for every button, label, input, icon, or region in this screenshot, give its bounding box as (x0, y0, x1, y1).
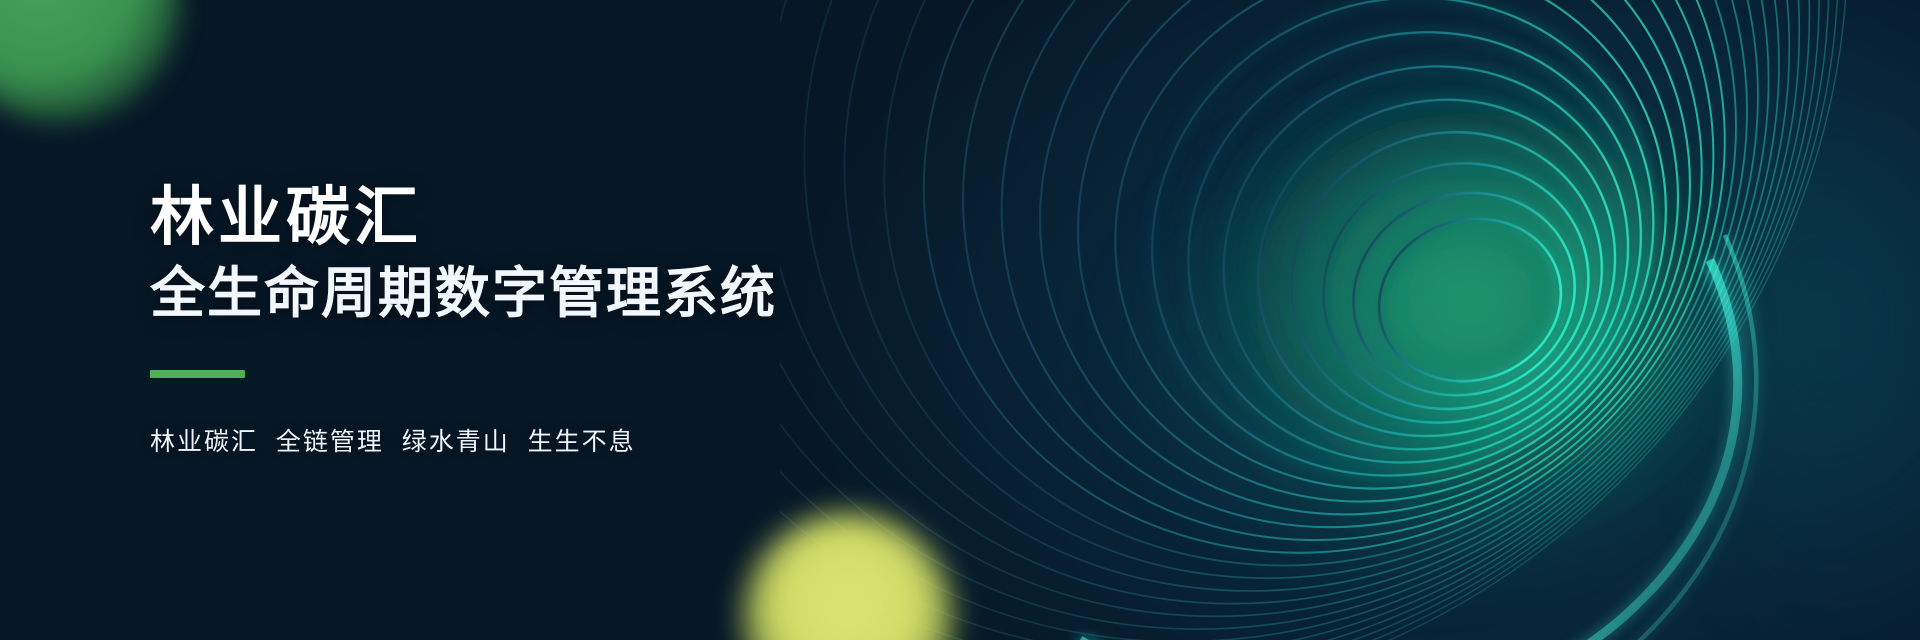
vortex-graphic (780, 0, 1920, 640)
vortex-ring (1026, 0, 1756, 581)
teal-glow-decoration (1130, 120, 1690, 580)
vortex-ring (780, 0, 1920, 640)
vortex-ring (1073, 0, 1733, 558)
edge-fade-decoration (1700, 0, 1920, 640)
vortex-ring (1326, 163, 1602, 425)
hero-banner: 林业碳汇 全生命周期数字管理系统 林业碳汇 全链管理 绿水青山 生生不息 (0, 0, 1920, 640)
vortex-ring (780, 0, 1920, 640)
vortex-ring (879, 0, 1824, 640)
vortex-ring (780, 0, 1920, 640)
vortex-ring (780, 0, 1920, 640)
vortex-ring (780, 0, 1920, 640)
vortex-ring (780, 0, 1871, 640)
vortex-ring (1119, 0, 1711, 535)
vortex-ring (780, 0, 1920, 640)
vortex-ring (1358, 195, 1582, 404)
hero-tagline: 林业碳汇 全链管理 绿水青山 生生不息 (150, 422, 777, 458)
vortex-ring (780, 0, 1920, 640)
vortex-ring (1249, 87, 1645, 467)
vortex-ring (929, 0, 1802, 629)
accent-divider (150, 370, 245, 378)
vortex-ring (829, 0, 1848, 640)
hero-text-block: 林业碳汇 全生命周期数字管理系统 林业碳汇 全链管理 绿水青山 生生不息 (150, 0, 777, 640)
vortex-ring (978, 0, 1779, 605)
vortex-ring (780, 0, 1920, 640)
vortex-ring (1289, 126, 1624, 446)
vortex-ring (780, 0, 1920, 640)
vortex-ring (780, 0, 1894, 640)
vortex-ring (780, 0, 1920, 640)
vortex-ring (780, 0, 1917, 640)
vortex-ring (1207, 46, 1666, 490)
vortex-ring (1163, 4, 1688, 513)
page-title: 林业碳汇 (150, 182, 777, 252)
page-subtitle: 全生命周期数字管理系统 (150, 262, 777, 326)
